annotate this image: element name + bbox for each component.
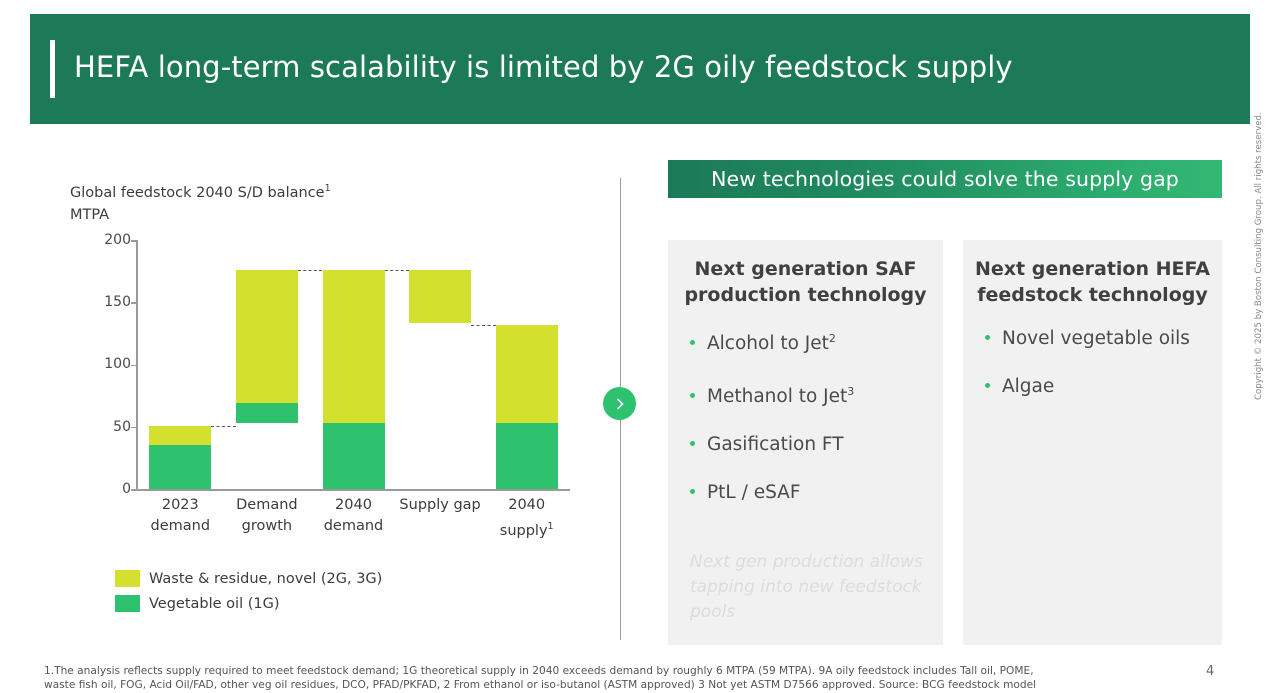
x-axis-label-line1: 2040 [305, 495, 402, 516]
legend-swatch-waste-residue [115, 570, 140, 587]
y-tick-200: 200 [95, 233, 131, 247]
card-next-gen-hefa: Next generation HEFA feedstock technolog… [963, 240, 1222, 645]
bullet-superscript: 2 [829, 332, 836, 345]
new-technologies-banner-text: New technologies could solve the supply … [711, 167, 1179, 191]
waterfall-connector-line [385, 270, 410, 271]
x-axis-label-line1: Supply gap [392, 495, 489, 516]
card-footnote: Next gen production allows tapping into … [690, 550, 927, 625]
new-technologies-banner: New technologies could solve the supply … [668, 160, 1222, 198]
bullet-item-label: Algae [1002, 376, 1054, 398]
x-axis-label-line1: Demand [219, 495, 316, 516]
bullet-item: Alcohol to Jet2 [690, 328, 929, 355]
footnote-line-1: 1.The analysis reflects supply required … [44, 664, 1194, 678]
bullet-item-label: Gasification FT [707, 434, 844, 456]
waterfall-connector-line [298, 270, 323, 271]
chart-title-text: Global feedstock 2040 S/D balance [70, 185, 325, 201]
x-axis-label-line2: supply1 [478, 516, 575, 542]
card-heading: Next generation SAF production technolog… [668, 240, 943, 308]
legend-item: Waste & residue, novel (2G, 3G) [115, 570, 382, 587]
bullet-item: Algae [985, 376, 1208, 398]
chart-title: Global feedstock 2040 S/D balance1 [70, 178, 570, 204]
bullet-item-label: Novel vegetable oils [1002, 328, 1190, 350]
card-heading-line2: feedstock technology [975, 282, 1210, 308]
bullet-item: Gasification FT [690, 434, 929, 456]
card-heading-line1: Next generation SAF [680, 256, 931, 282]
bullet-dot-icon [690, 441, 695, 446]
bullet-superscript: 3 [847, 385, 854, 398]
footnote-line-2: waste fish oil, FOG, Acid Oil/FAD, other… [44, 678, 1194, 692]
bullet-item-label: PtL / eSAF [707, 482, 800, 504]
bar-segment-vegetable-oil [149, 445, 211, 489]
card-heading-line2: production technology [680, 282, 931, 308]
chart-title-superscript: 1 [325, 183, 331, 194]
chevron-right-icon[interactable] [603, 387, 636, 420]
title-accent-bar [50, 40, 55, 98]
x-axis-labels: 2023demandDemandgrowth2040demandSupply g… [137, 495, 570, 545]
x-axis-label-line2: demand [305, 516, 402, 537]
slide-root: HEFA long-term scalability is limited by… [0, 0, 1280, 693]
y-axis-tick-mark [131, 489, 136, 491]
card-heading-line1: Next generation HEFA [975, 256, 1210, 282]
x-axis-label-line1: 2040 [478, 495, 575, 516]
x-axis-label: 2040demand [305, 495, 402, 537]
y-axis-tick-mark [131, 427, 136, 429]
title-banner: HEFA long-term scalability is limited by… [30, 14, 1250, 124]
y-axis-tick-mark [131, 302, 136, 304]
chart-legend: Waste & residue, novel (2G, 3G) Vegetabl… [115, 570, 382, 620]
bullet-item-label: Alcohol to Jet2 [707, 328, 836, 355]
chart-y-unit-label: MTPA [70, 204, 570, 226]
page-number: 4 [1206, 664, 1214, 679]
card-bullet-list: Novel vegetable oilsAlgae [963, 328, 1222, 398]
bullet-item: Methanol to Jet3 [690, 381, 929, 408]
chart-block: Global feedstock 2040 S/D balance1 MTPA … [70, 178, 570, 638]
x-axis-line [136, 489, 570, 491]
waterfall-connector-line [471, 325, 496, 326]
y-tick-100: 100 [95, 357, 131, 371]
chart-plot-area: 200 150 100 50 0 2023demandDemandgrowth2… [95, 240, 570, 500]
x-axis-label-superscript: 1 [548, 521, 554, 532]
bar-segment-vegetable-oil [236, 403, 298, 423]
bar-segment-waste-residue [409, 270, 471, 324]
bar-segment-waste-residue [323, 270, 385, 423]
bullet-dot-icon [690, 489, 695, 494]
y-axis-tick-mark [131, 240, 136, 242]
bullet-dot-icon [690, 340, 695, 345]
bullet-item: Novel vegetable oils [985, 328, 1208, 350]
bullet-dot-icon [985, 383, 990, 388]
legend-label-vegetable-oil: Vegetable oil (1G) [149, 596, 280, 612]
card-heading: Next generation HEFA feedstock technolog… [963, 240, 1222, 308]
x-axis-label-line1: 2023 [132, 495, 229, 516]
page-title: HEFA long-term scalability is limited by… [74, 50, 1013, 84]
card-bullet-list: Alcohol to Jet2Methanol to Jet3Gasificat… [668, 328, 943, 504]
chart-bars [137, 240, 570, 489]
copyright-notice: Copyright © 2025 by Boston Consulting Gr… [1254, 150, 1264, 400]
bullet-dot-icon [690, 393, 695, 398]
bullet-dot-icon [985, 335, 990, 340]
x-axis-label-line2: growth [219, 516, 316, 537]
footnote-block: 1.The analysis reflects supply required … [44, 664, 1194, 692]
bar-segment-waste-residue [496, 325, 558, 423]
x-axis-label: Supply gap [392, 495, 489, 516]
bar-segment-waste-residue [236, 270, 298, 403]
bar-segment-vegetable-oil [496, 423, 558, 489]
legend-label-waste-residue: Waste & residue, novel (2G, 3G) [149, 571, 382, 587]
y-tick-0: 0 [95, 482, 131, 496]
x-axis-label: 2040supply1 [478, 495, 575, 542]
x-axis-label: 2023demand [132, 495, 229, 537]
legend-swatch-vegetable-oil [115, 595, 140, 612]
x-axis-label: Demandgrowth [219, 495, 316, 537]
y-tick-50: 50 [95, 420, 131, 434]
y-axis-tick-mark [131, 365, 136, 367]
bullet-item-label: Methanol to Jet3 [707, 381, 854, 408]
bar-segment-vegetable-oil [323, 423, 385, 489]
bar-segment-waste-residue [149, 426, 211, 446]
card-next-gen-saf: Next generation SAF production technolog… [668, 240, 943, 645]
x-axis-label-line2: demand [132, 516, 229, 537]
waterfall-connector-line [211, 426, 236, 427]
legend-item: Vegetable oil (1G) [115, 595, 382, 612]
y-tick-150: 150 [95, 295, 131, 309]
bullet-item: PtL / eSAF [690, 482, 929, 504]
